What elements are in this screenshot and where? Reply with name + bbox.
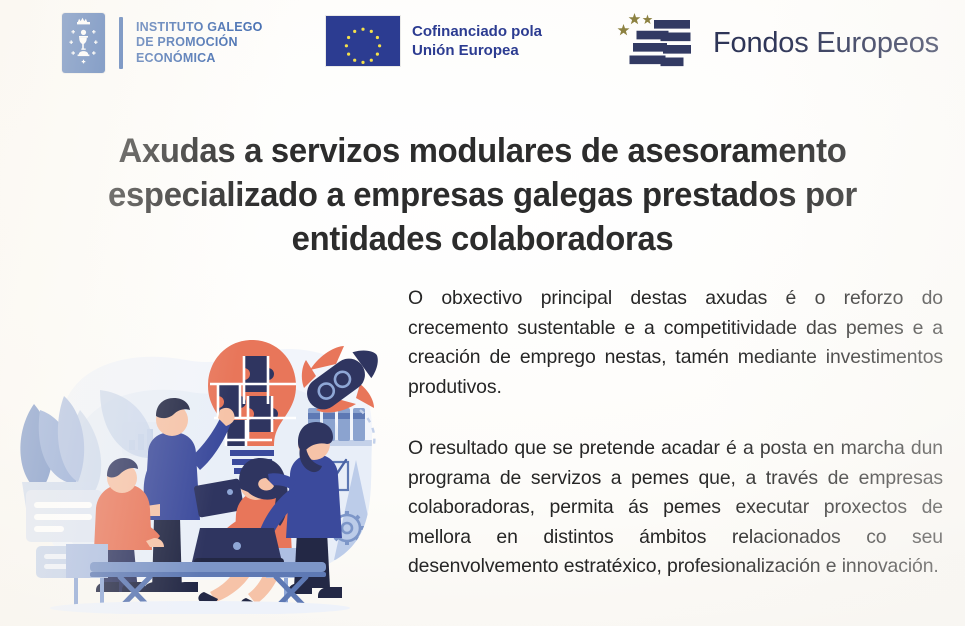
logo-fondos-europeos: Fondos Europeos <box>616 8 939 78</box>
logo-igape-line-3: ECONÓMICA <box>136 51 263 67</box>
logo-igape-line-1: INSTITUTO GALEGO <box>136 20 263 36</box>
logo-eu-line-2: Unión Europea <box>412 41 542 60</box>
logo-igape: INSTITUTO GALEGO DE PROMOCIÓN ECONÓMICA <box>62 13 263 73</box>
logo-european-union: Cofinanciado pola Unión Europea <box>326 16 542 66</box>
logo-igape-line-2: DE PROMOCIÓN <box>136 35 263 51</box>
logo-eu-line-1: Cofinanciado pola <box>412 22 542 41</box>
paragraph-objective: O obxectivo principal destas axudas é o … <box>408 284 943 402</box>
desk-laptop <box>192 528 284 565</box>
page-title: Axudas a servizos modulares de asesorame… <box>52 129 914 261</box>
funding-logo-bar: INSTITUTO GALEGO DE PROMOCIÓN ECONÓMICA <box>0 0 965 92</box>
paragraph-result: O resultado que se pretende acadar é a p… <box>408 434 943 582</box>
team-collaboration-illustration <box>4 292 396 614</box>
xunta-de-galicia-coat-of-arms-icon <box>62 13 105 73</box>
body-copy: O obxectivo principal destas axudas é o … <box>408 284 943 582</box>
logo-fondos-europeos-label: Fondos Europeos <box>713 28 939 58</box>
logo-igape-text: INSTITUTO GALEGO DE PROMOCIÓN ECONÓMICA <box>136 20 263 67</box>
logo-european-union-text: Cofinanciado pola Unión Europea <box>412 22 542 60</box>
fondos-europeos-stepped-bars-icon <box>616 8 702 78</box>
european-union-flag-icon <box>326 16 400 66</box>
logo-divider-rule <box>119 17 123 69</box>
